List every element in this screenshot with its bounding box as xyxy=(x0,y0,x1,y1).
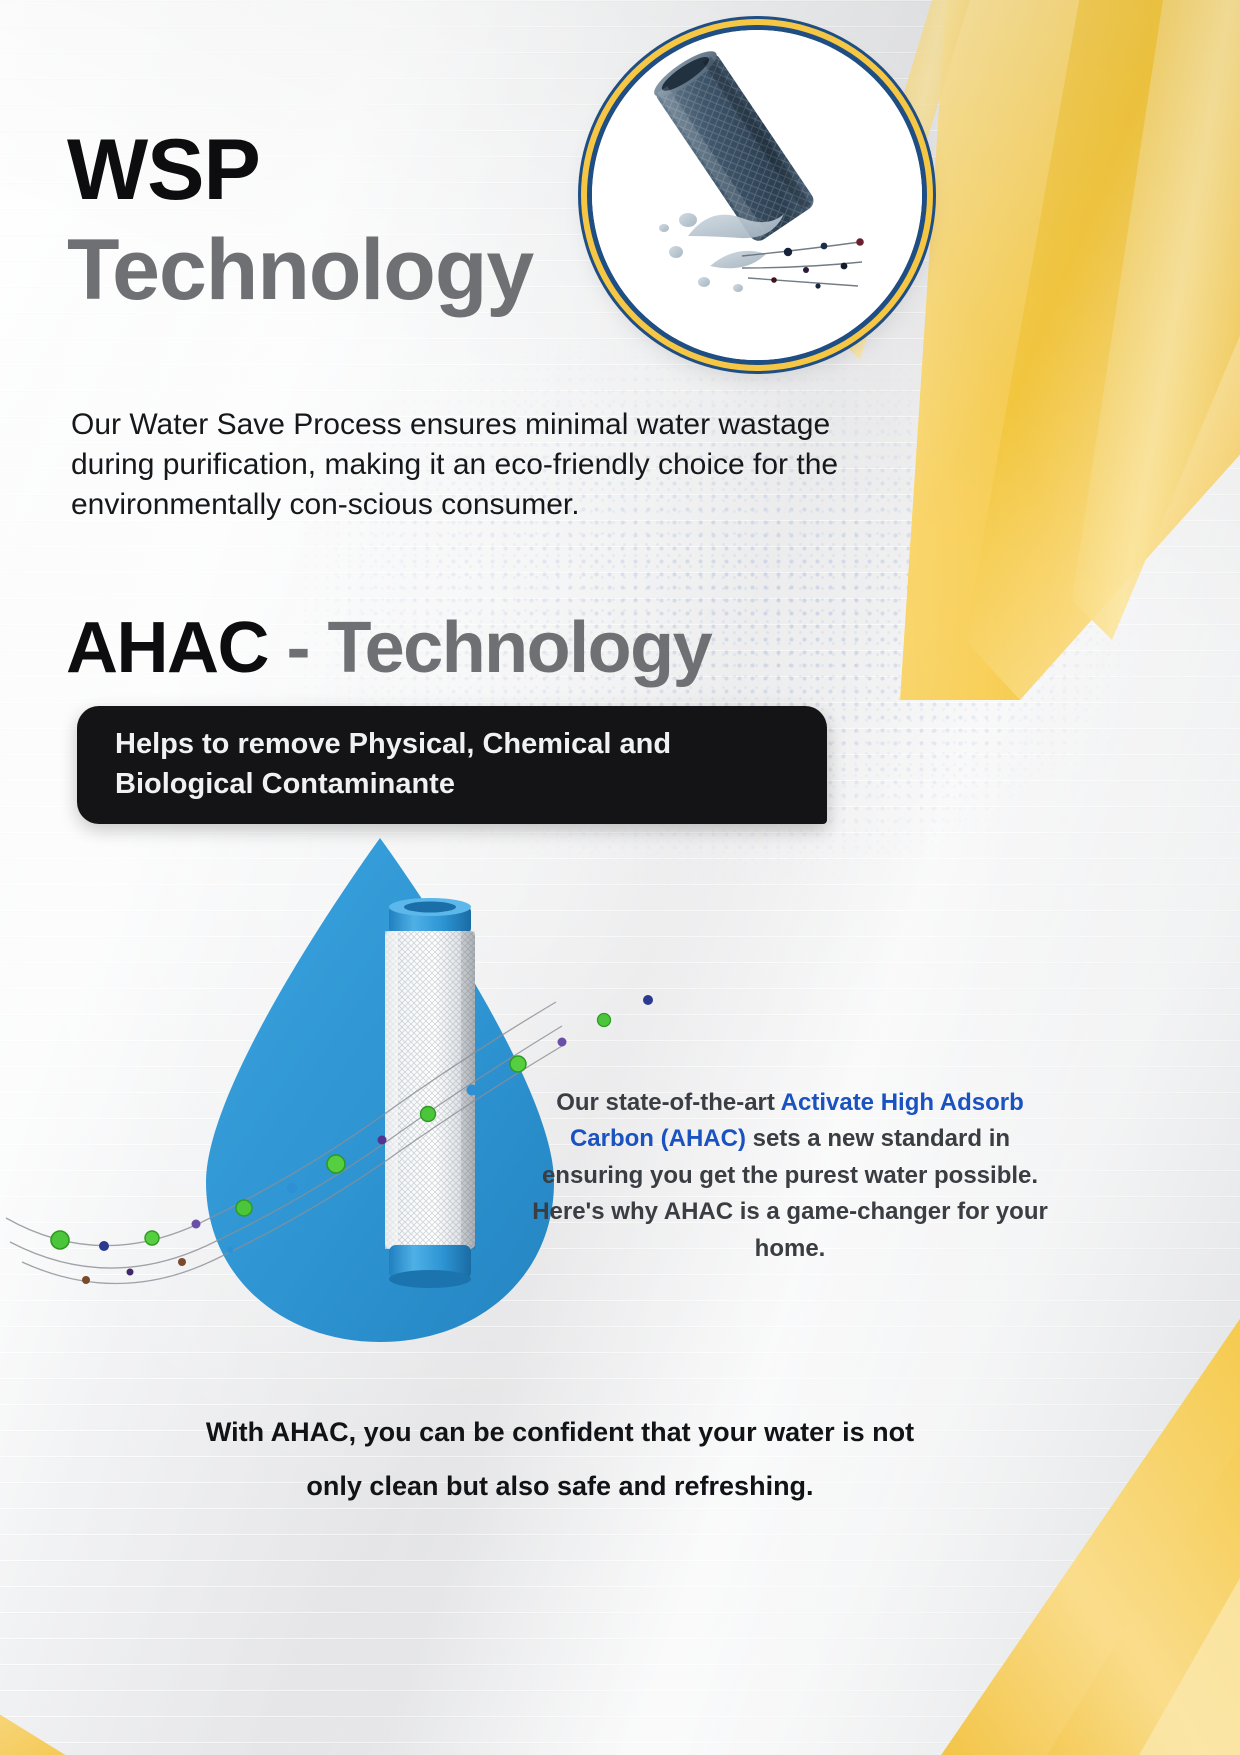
closing-statement: With AHAC, you can be confident that you… xyxy=(110,1405,1010,1513)
ahac-description-lead: Our state-of-the-art xyxy=(556,1089,780,1116)
contaminants-banner: Helps to remove Physical, Chemical and B… xyxy=(77,706,827,824)
banner-line-2: Biological Contaminante xyxy=(115,764,797,804)
gold-ribbon-icon xyxy=(840,1275,1240,1755)
poster-canvas: WSP Technology Our Water Save Process en… xyxy=(0,0,1240,1755)
filter-cartridge-water-splash-icon xyxy=(592,30,922,360)
ahac-description: Our state-of-the-art Activate High Adsor… xyxy=(520,1085,1060,1267)
gold-ribbon-icon xyxy=(0,1605,130,1755)
ahac-title: AHAC - Technology xyxy=(66,612,711,684)
closing-line-2: only clean but also safe and refreshing. xyxy=(110,1459,1010,1513)
page-subtitle-technology: Technology xyxy=(67,228,533,312)
wsp-description: Our Water Save Process ensures minimal w… xyxy=(71,405,871,525)
ahac-title-black: AHAC xyxy=(66,608,268,688)
page-title-wsp: WSP xyxy=(67,128,260,212)
hero-badge xyxy=(592,30,922,360)
banner-line-1: Helps to remove Physical, Chemical and xyxy=(115,724,797,764)
ahac-title-gray: - Technology xyxy=(268,608,711,688)
closing-line-1: With AHAC, you can be confident that you… xyxy=(110,1405,1010,1459)
